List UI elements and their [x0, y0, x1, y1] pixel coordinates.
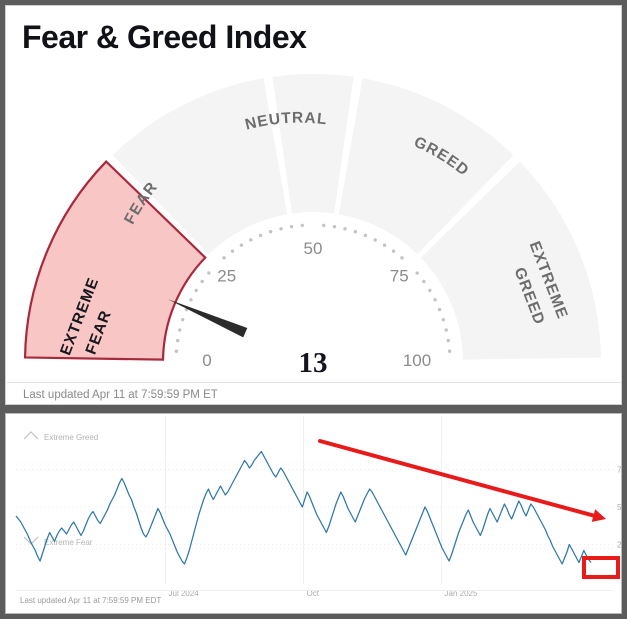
gauge-tick-dot [373, 238, 376, 241]
gauge-tick-dot [433, 298, 436, 301]
gauge-value: 13 [299, 347, 328, 379]
gauge-tick-dot [422, 280, 425, 283]
trend-arrow-head [592, 509, 606, 522]
gauge-footer-divider [7, 382, 622, 383]
gauge-tick-dot [200, 280, 203, 283]
gauge-tick-label-100: 100 [403, 351, 431, 370]
chart-y-label-50: 50 [617, 503, 621, 512]
gauge-tick-dot [176, 339, 179, 342]
gauge-segment-neutral [272, 74, 353, 213]
chart-horizontal-gridlines [16, 470, 613, 545]
extreme-greed-band-label: Extreme Greed [24, 432, 98, 442]
chart-y-label-75: 75 [617, 466, 621, 475]
gauge-tick-dot [181, 318, 184, 321]
screenshot-root: Fear & Greed Index 0255075100 EXTREME [0, 0, 627, 619]
gauge-tick-dot [438, 308, 441, 311]
gauge-tick-dot [333, 225, 336, 228]
gauge-tick-dot [189, 298, 192, 301]
gauge-tick-dot [448, 350, 451, 353]
gauge-tick-dot [415, 271, 418, 274]
gauge-tick-dot [322, 224, 325, 227]
gauge-svg: 0255075100 EXTREME FEAR FEAR NEUTRAL GRE… [6, 50, 621, 385]
gauge-tick-dot [400, 256, 403, 259]
gauge-tick-label-25: 25 [217, 267, 236, 286]
chart-y-label-25: 25 [617, 541, 621, 550]
gauge-tick-dot [279, 227, 282, 230]
gauge-tick-dot [222, 256, 225, 259]
fear-greed-gauge-panel: Fear & Greed Index 0255075100 EXTREME [5, 5, 622, 405]
extreme-fear-label-text: Extreme Fear [44, 538, 93, 547]
gauge-tick-dot [428, 289, 431, 292]
fear-greed-history-panel: Extreme Greed Extreme Fear 255075 Jul 20… [5, 413, 622, 614]
gauge-tick-dot [178, 328, 181, 331]
gauge-tick-dot [447, 339, 450, 342]
chevron-up-icon [24, 432, 38, 439]
trend-arrow-shaft [320, 441, 593, 516]
gauge-tick-dot [259, 234, 262, 237]
gauge-tick-dot [269, 230, 272, 233]
trend-arrow-annotation [320, 441, 606, 522]
gauge-tick-dot [175, 350, 178, 353]
gauge-tick-dot [343, 227, 346, 230]
gauge-last-updated: Last updated Apr 11 at 7:59:59 PM ET [23, 389, 218, 401]
gauge-tick-label-50: 50 [304, 239, 323, 258]
gauge-tick-dot [445, 328, 448, 331]
chart-vertical-gridlines [166, 416, 442, 584]
chart-y-axis-labels: 255075 [617, 466, 621, 550]
gauge-tick-dot [301, 224, 304, 227]
gauge-tick-dot [207, 271, 210, 274]
gauge-tick-dot [249, 238, 252, 241]
gauge-tick-label-75: 75 [390, 267, 409, 286]
gauge-tick-dot [392, 249, 395, 252]
extreme-greed-label-text: Extreme Greed [44, 433, 98, 442]
gauge-tick-dot [290, 225, 293, 228]
gauge-tick-label-0: 0 [202, 351, 211, 370]
history-chart-svg: Extreme Greed Extreme Fear 255075 Jul 20… [6, 414, 621, 613]
gauge-tick-dot [194, 289, 197, 292]
extreme-fear-band-label: Extreme Fear [24, 537, 93, 547]
gauge-tick-dot [240, 243, 243, 246]
gauge-tick-dot [383, 243, 386, 246]
gauge-tick-dot [231, 249, 234, 252]
gauge-dial: 0255075100 EXTREME FEAR FEAR NEUTRAL GRE… [6, 50, 621, 380]
chart-last-updated: Last updated Apr 11 at 7:59:59 PM EDT [20, 596, 161, 605]
gauge-tick-dot [364, 234, 367, 237]
gauge-tick-dot [442, 318, 445, 321]
chart-footer-divider [16, 590, 612, 591]
chart-band-gridlines [16, 462, 613, 549]
gauge-tick-dot [354, 230, 357, 233]
